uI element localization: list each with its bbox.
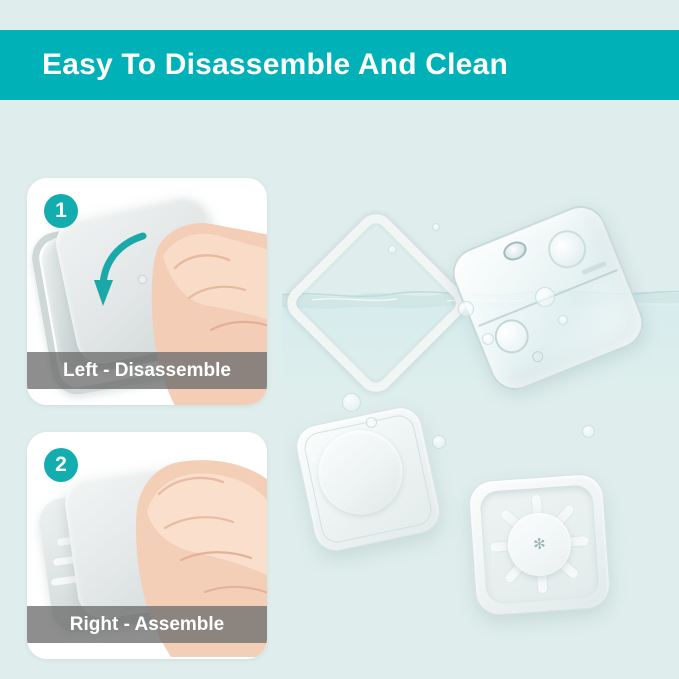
water-bubble <box>582 425 595 438</box>
water-bubble <box>366 417 377 428</box>
infographic-canvas: Easy To Disassemble And Clean <box>0 0 679 679</box>
water-bubble <box>535 287 555 307</box>
page-title: Easy To Disassemble And Clean <box>0 48 508 82</box>
water-bubble <box>558 315 568 325</box>
base-tray-with-radial-ribs: ✻ <box>467 472 611 616</box>
curved-rotate-arrow-icon <box>93 232 151 310</box>
step-caption-1: Left - Disassemble <box>27 352 267 389</box>
step-card-1: 1 Left - Disassemble <box>27 178 267 405</box>
water-bubble <box>388 245 397 254</box>
step-card-2: 2 Right - Assemble <box>27 432 267 659</box>
step-badge-1: 1 <box>44 194 78 228</box>
water-bubble <box>482 333 494 345</box>
header-banner: Easy To Disassemble And Clean <box>0 30 679 100</box>
step-badge-2: 2 <box>44 448 78 482</box>
water-bubble <box>432 223 440 231</box>
water-bubble <box>342 393 361 412</box>
tray-hub-star-icon: ✻ <box>530 535 548 553</box>
water-bubble <box>458 301 474 317</box>
product-scene: ✻ <box>282 105 679 679</box>
step-caption-2: Right - Assemble <box>27 606 267 643</box>
water-bubble <box>432 435 446 449</box>
